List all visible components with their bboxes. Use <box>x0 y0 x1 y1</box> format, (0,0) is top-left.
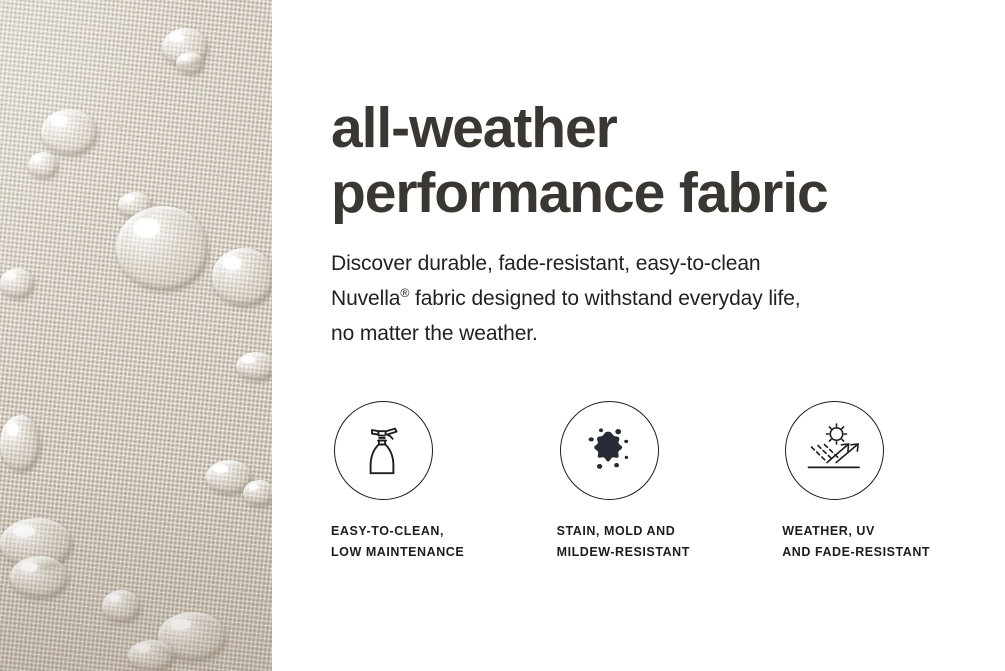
sun-uv-fade-icon <box>802 418 868 484</box>
fabric-photo <box>0 0 272 671</box>
fabric-shading-overlay <box>0 0 272 671</box>
feature-icon-frame <box>334 401 433 500</box>
feature-caption: STAIN, MOLD AND MILDEW-RESISTANT <box>557 521 690 562</box>
brand-name: Nuvella <box>331 287 400 310</box>
description-line-3: no matter the weather. <box>331 316 971 351</box>
promo-banner: all-weather performance fabric Discover … <box>0 0 1005 671</box>
stain-splat-icon <box>577 419 641 483</box>
feature-icon-frame <box>785 401 884 500</box>
feature-caption: EASY-TO-CLEAN, LOW MAINTENANCE <box>331 521 464 562</box>
feature-caption-line-2: MILDEW-RESISTANT <box>557 542 690 563</box>
feature-uv-fade-resistant: WEATHER, UV AND FADE-RESISTANT <box>782 401 981 562</box>
spray-bottle-icon <box>352 419 416 483</box>
feature-stain-resistant: STAIN, MOLD AND MILDEW-RESISTANT <box>557 401 783 562</box>
feature-easy-to-clean: EASY-TO-CLEAN, LOW MAINTENANCE <box>331 401 557 562</box>
feature-caption-line-2: AND FADE-RESISTANT <box>782 542 930 563</box>
description-line-2: Nuvella® fabric designed to withstand ev… <box>331 281 971 316</box>
feature-caption: WEATHER, UV AND FADE-RESISTANT <box>782 521 930 562</box>
page-title: all-weather performance fabric <box>331 96 971 226</box>
registered-trademark-icon: ® <box>400 286 409 300</box>
feature-caption-line-1: WEATHER, UV <box>782 521 930 542</box>
headline-line-2: performance fabric <box>331 161 971 226</box>
feature-list: EASY-TO-CLEAN, LOW MAINTENANCE <box>331 401 981 562</box>
feature-caption-line-2: LOW MAINTENANCE <box>331 542 464 563</box>
description-text: Discover durable, fade-resistant, easy-t… <box>331 246 971 351</box>
description-line-1: Discover durable, fade-resistant, easy-t… <box>331 246 971 281</box>
content-column: all-weather performance fabric Discover … <box>331 0 971 671</box>
feature-caption-line-1: EASY-TO-CLEAN, <box>331 521 464 542</box>
headline-line-1: all-weather <box>331 96 971 161</box>
feature-icon-frame <box>560 401 659 500</box>
feature-caption-line-1: STAIN, MOLD AND <box>557 521 690 542</box>
description-line-2-rest: fabric designed to withstand everyday li… <box>409 287 800 310</box>
